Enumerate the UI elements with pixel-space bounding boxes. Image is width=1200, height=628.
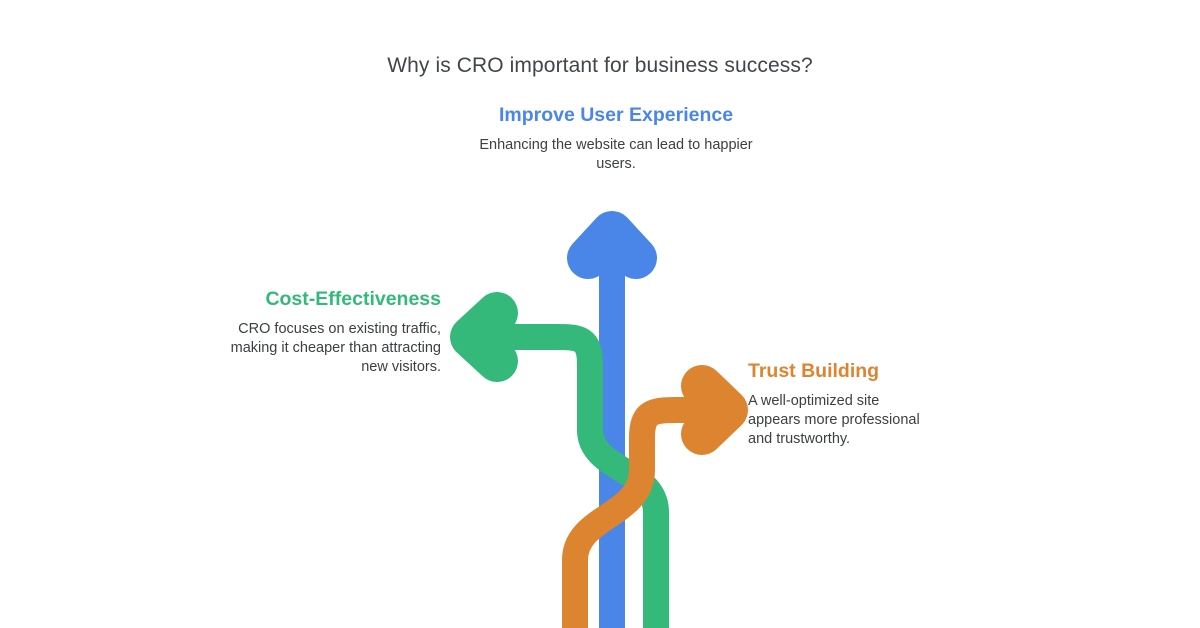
arrow-diagram xyxy=(0,0,1200,628)
branch-body-cost-effectiveness: CRO focuses on existing traffic, making … xyxy=(205,320,441,377)
branch-cost-effectiveness: Cost-Effectiveness CRO focuses on existi… xyxy=(205,287,441,377)
branch-heading-cost-effectiveness: Cost-Effectiveness xyxy=(205,287,441,311)
branch-body-trust-building: A well-optimized site appears more profe… xyxy=(748,392,928,449)
branch-heading-trust-building: Trust Building xyxy=(748,359,928,383)
branch-improve-user-experience: Improve User Experience Enhancing the we… xyxy=(472,103,760,174)
branch-body-improve-user-experience: Enhancing the website can lead to happie… xyxy=(472,136,760,174)
branch-trust-building: Trust Building A well-optimized site app… xyxy=(748,359,928,449)
infographic-canvas: Why is CRO important for business succes… xyxy=(0,0,1200,628)
branch-heading-improve-user-experience: Improve User Experience xyxy=(472,103,760,127)
